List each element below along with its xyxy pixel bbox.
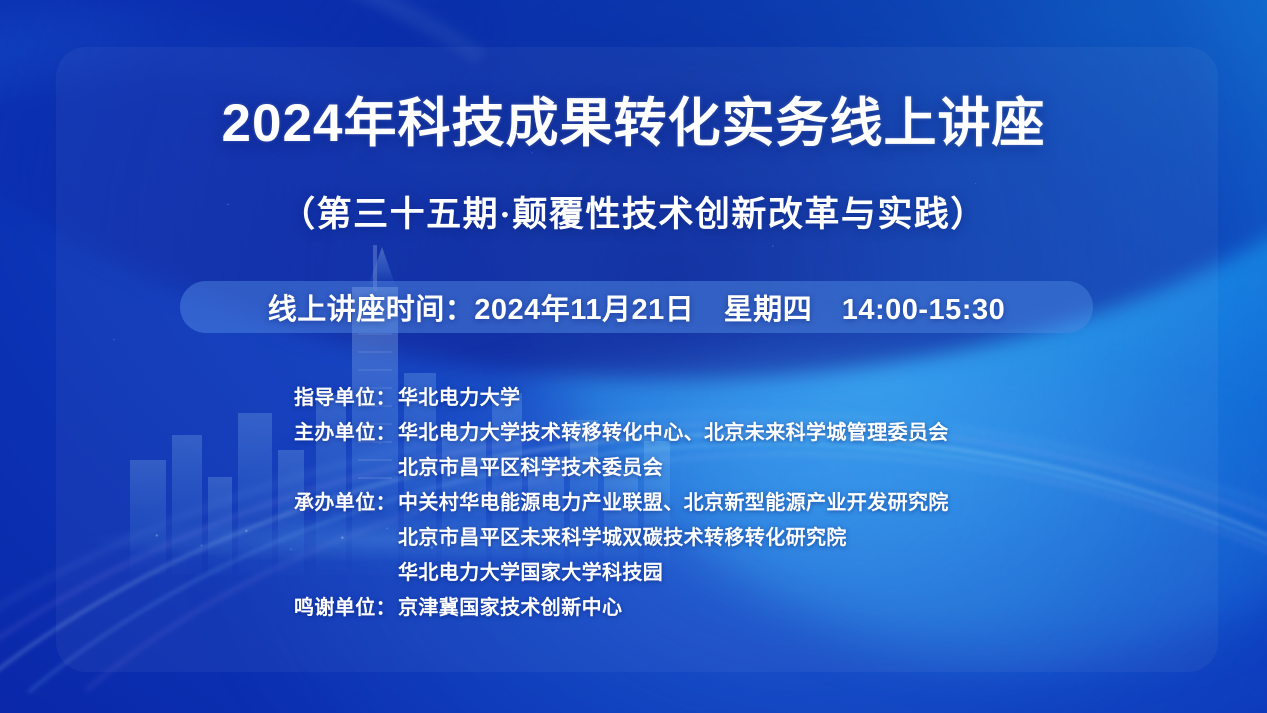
lecture-time-text: 线上讲座时间：2024年11月21日 星期四 14:00-15:30	[268, 286, 1005, 328]
org-row-acknowledgement: 鸣谢单位： 京津冀国家技术创新中心	[294, 591, 1054, 626]
lecture-time-banner: 线上讲座时间：2024年11月21日 星期四 14:00-15:30	[180, 281, 1093, 333]
org-row-organizer-3: 华北电力大学国家大学科技园	[294, 556, 1054, 591]
org-label: 主办单位：	[294, 416, 398, 445]
org-row-host-1: 主办单位： 华北电力大学技术转移转化中心、北京未来科学城管理委员会	[294, 416, 1054, 451]
org-value: 北京市昌平区科学技术委员会	[398, 451, 1054, 480]
org-label: 指导单位：	[294, 381, 398, 410]
org-value: 北京市昌平区未来科学城双碳技术转移转化研究院	[398, 521, 1054, 550]
page-subtitle: （第三十五期·颠覆性技术创新改革与实践）	[0, 194, 1267, 236]
org-value: 京津冀国家技术创新中心	[398, 591, 1054, 620]
org-row-guidance: 指导单位： 华北电力大学	[294, 381, 1054, 416]
org-value: 华北电力大学技术转移转化中心、北京未来科学城管理委员会	[398, 416, 1054, 445]
poster-canvas: 2024年科技成果转化实务线上讲座 （第三十五期·颠覆性技术创新改革与实践） 线…	[0, 0, 1267, 713]
org-label: 承办单位：	[294, 486, 398, 515]
poster-content: 2024年科技成果转化实务线上讲座 （第三十五期·颠覆性技术创新改革与实践） 线…	[0, 0, 1267, 713]
org-label: 鸣谢单位：	[294, 591, 398, 620]
org-value: 中关村华电能源电力产业联盟、北京新型能源产业开发研究院	[398, 486, 1054, 515]
org-value: 华北电力大学	[398, 381, 1054, 410]
org-row-organizer-1: 承办单位： 中关村华电能源电力产业联盟、北京新型能源产业开发研究院	[294, 486, 1054, 521]
org-row-host-2: 北京市昌平区科学技术委员会	[294, 451, 1054, 486]
org-row-organizer-2: 北京市昌平区未来科学城双碳技术转移转化研究院	[294, 521, 1054, 556]
organization-list: 指导单位： 华北电力大学 主办单位： 华北电力大学技术转移转化中心、北京未来科学…	[294, 381, 1054, 626]
org-value: 华北电力大学国家大学科技园	[398, 556, 1054, 585]
page-title: 2024年科技成果转化实务线上讲座	[0, 94, 1267, 155]
